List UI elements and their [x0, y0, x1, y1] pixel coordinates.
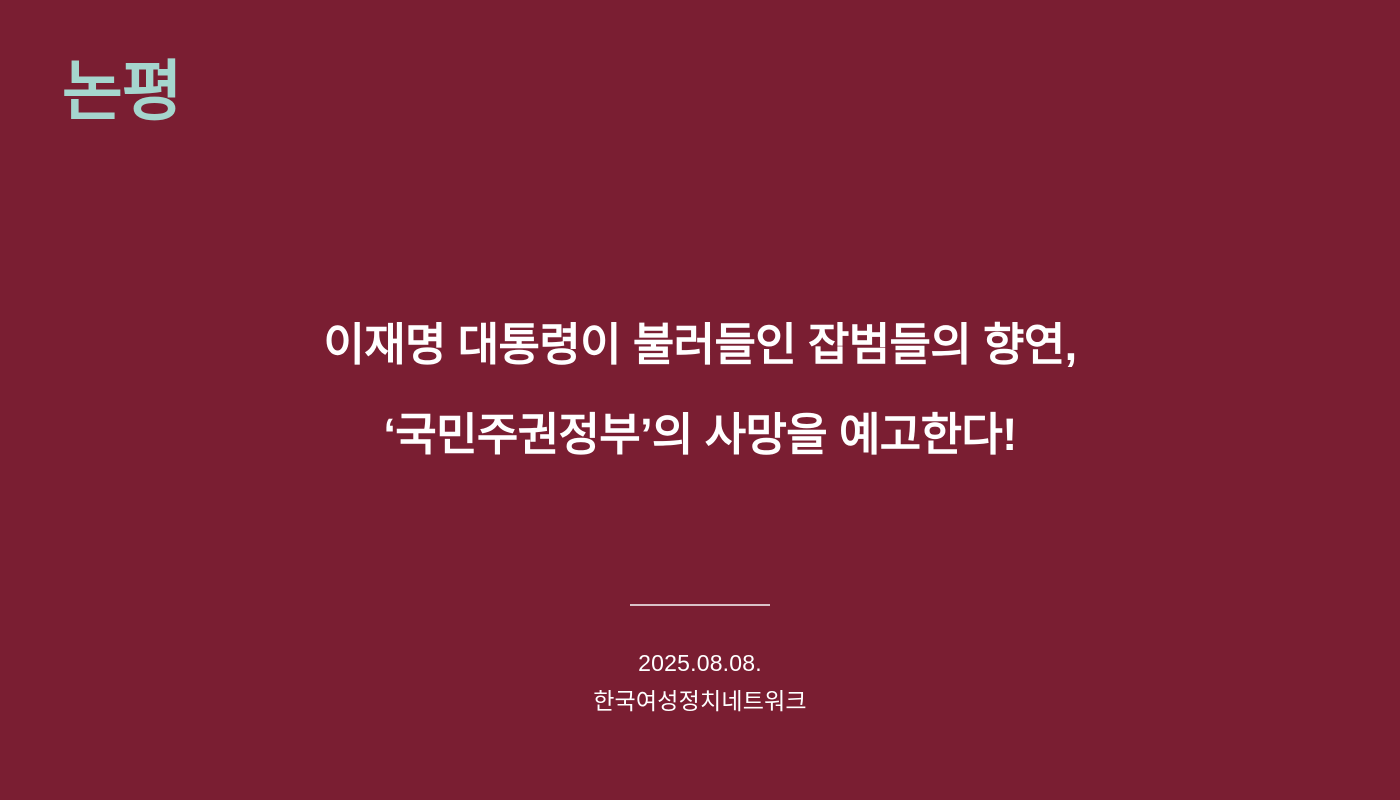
- headline-block: 이재명 대통령이 불러들인 잡범들의 향연, ‘국민주권정부’의 사망을 예고한…: [0, 300, 1400, 480]
- logo-nonpyeong: 논평: [62, 58, 181, 124]
- commentary-card: 논평 이재명 대통령이 불러들인 잡범들의 향연, ‘국민주권정부’의 사망을 …: [0, 0, 1400, 800]
- footer-block: 2025.08.08. 한국여성정치네트워크: [0, 604, 1400, 720]
- headline-line-1: 이재명 대통령이 불러들인 잡범들의 향연,: [80, 300, 1320, 390]
- headline-line-2: ‘국민주권정부’의 사망을 예고한다!: [80, 390, 1320, 480]
- footer-divider: [630, 604, 770, 606]
- organization-name: 한국여성정치네트워크: [0, 682, 1400, 720]
- publish-date: 2025.08.08.: [0, 644, 1400, 682]
